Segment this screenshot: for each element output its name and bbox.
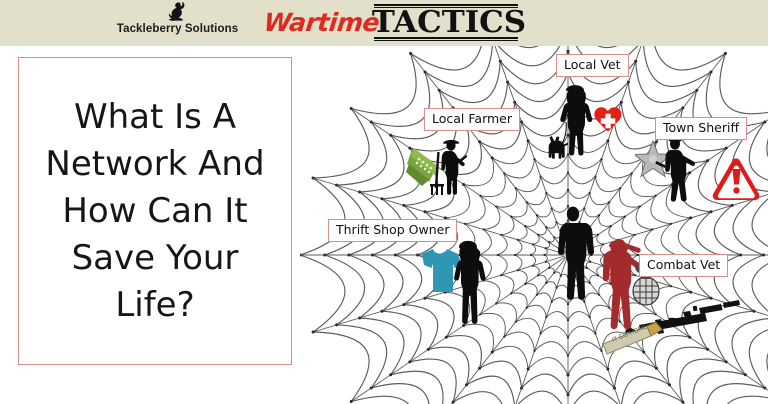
title-card: What Is A Network And How Can It Save Yo… bbox=[18, 57, 292, 365]
green-corn-cob bbox=[406, 148, 439, 186]
tactics-word: TACTICS bbox=[372, 8, 520, 37]
town-sheriff-figure bbox=[635, 135, 763, 233]
brand-name: Tackleberry Solutions bbox=[117, 23, 238, 36]
dog-silhouette bbox=[549, 136, 568, 159]
label-local-farmer[interactable]: Local Farmer bbox=[424, 108, 520, 131]
farmer-silhouette bbox=[441, 140, 467, 195]
red-heart-medical-icon bbox=[594, 107, 621, 131]
leash-line bbox=[562, 122, 566, 144]
wartime-wordmark: Wartime bbox=[262, 8, 380, 37]
tactics-wordmark: TACTICS bbox=[374, 4, 518, 41]
label-thrift-shop-owner[interactable]: Thrift Shop Owner bbox=[328, 219, 457, 242]
header-band: Tackleberry Solutions Wartime TACTICS bbox=[0, 0, 768, 46]
label-combat-vet[interactable]: Combat Vet bbox=[639, 254, 728, 277]
lone-man-silhouette bbox=[558, 207, 594, 300]
local-farmer-figure bbox=[405, 134, 483, 206]
tactics-rule-bottom-2 bbox=[374, 40, 518, 41]
page-title: What Is A Network And How Can It Save Yo… bbox=[19, 94, 291, 329]
thrift-owner-silhouette bbox=[454, 241, 486, 324]
label-local-vet[interactable]: Local Vet bbox=[556, 54, 629, 77]
label-town-sheriff[interactable]: Town Sheriff bbox=[655, 117, 747, 140]
squirrel-icon bbox=[167, 2, 189, 22]
warning-triangle-icon bbox=[713, 158, 760, 200]
slide-canvas: Tackleberry Solutions Wartime TACTICS Wh… bbox=[0, 0, 768, 404]
local-vet-figure bbox=[545, 84, 635, 170]
thrift-shop-owner-figure bbox=[400, 236, 486, 346]
brand-logo: Tackleberry Solutions bbox=[100, 2, 255, 44]
center-person-figure bbox=[546, 204, 602, 312]
